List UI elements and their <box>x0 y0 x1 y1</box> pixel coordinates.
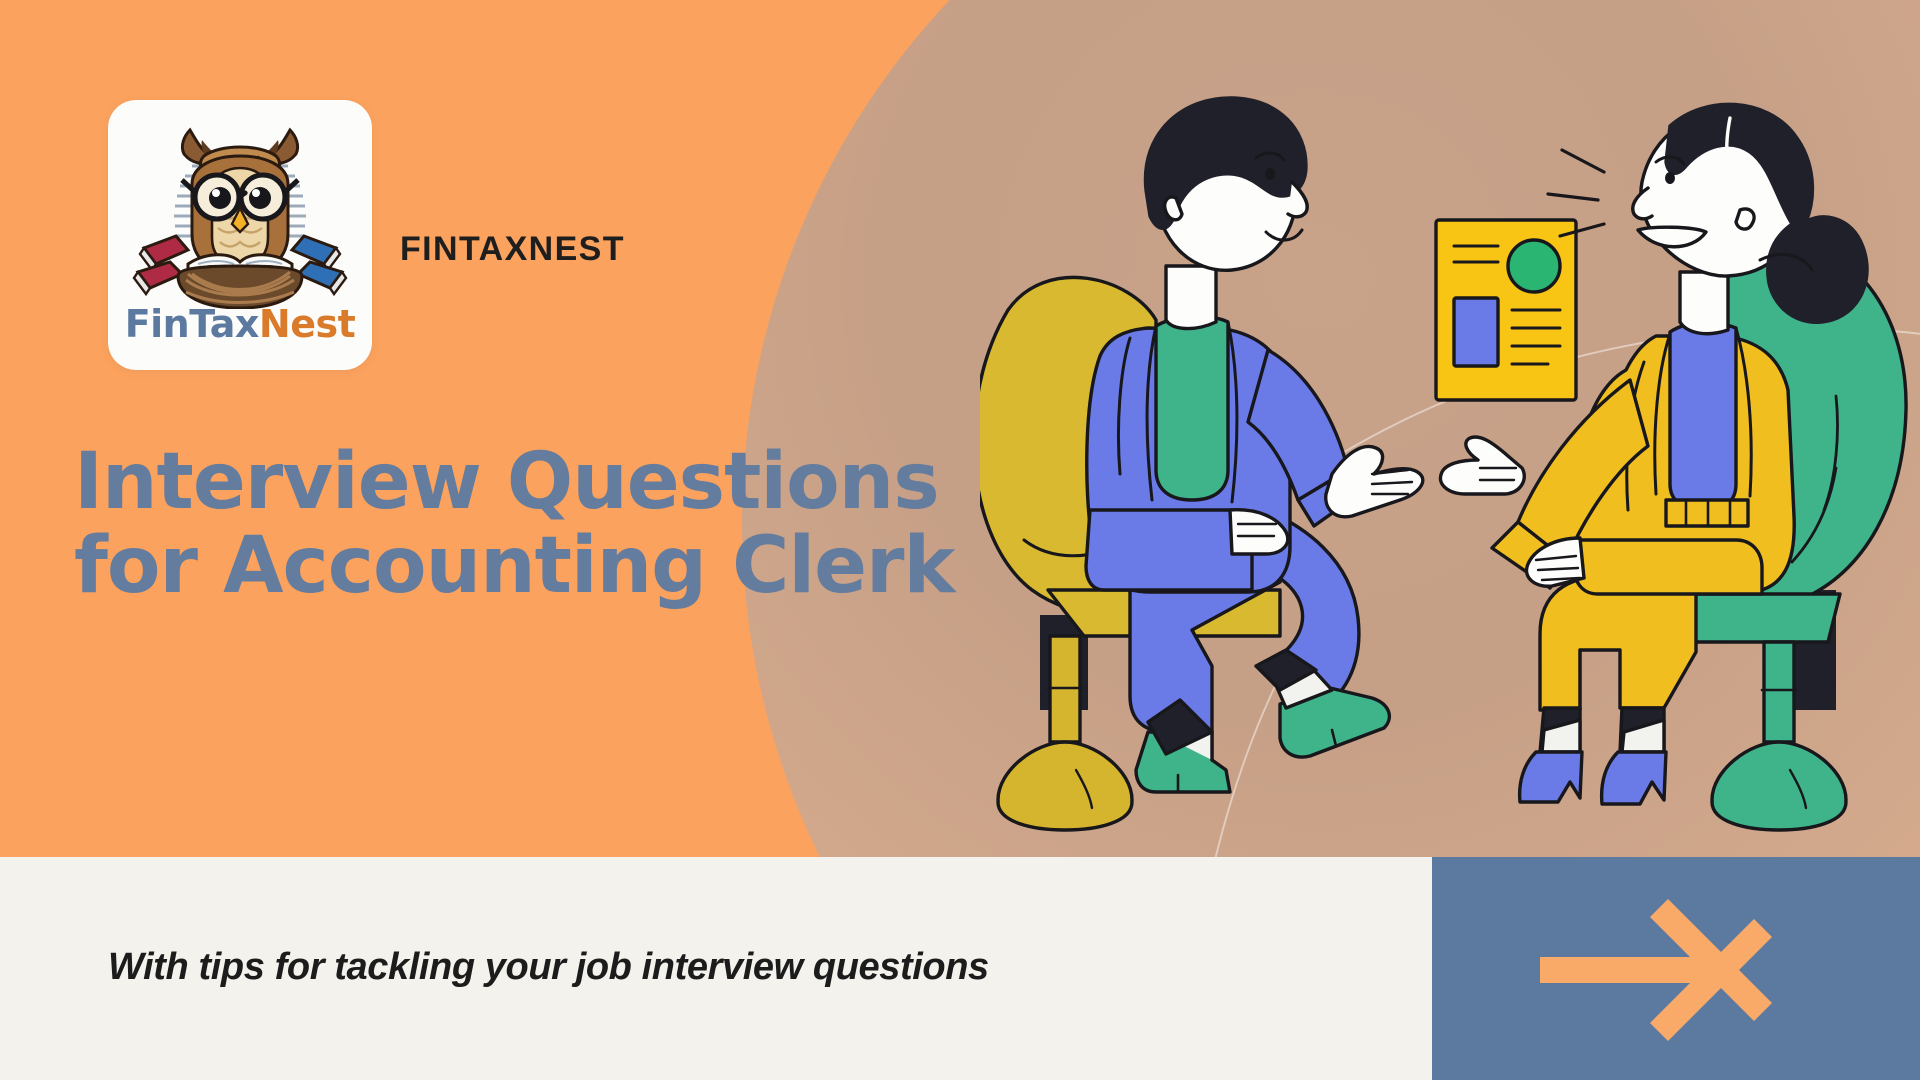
page-title-line2: for Accounting Clerk <box>74 524 1074 608</box>
page-title-line1: Interview Questions <box>74 437 939 527</box>
subtitle: With tips for tackling your job intervie… <box>108 946 1388 989</box>
hero-band: FinTaxNest FINTAXNEST Interview Question… <box>0 0 1920 857</box>
interview-illustration <box>980 70 1920 857</box>
arrow-right-icon[interactable] <box>1540 895 1810 1045</box>
logo-wordmark: FinTaxNest <box>125 305 356 343</box>
logo-word-nest: Nest <box>259 302 355 346</box>
page-title: Interview Questions for Accounting Clerk <box>74 440 1074 608</box>
owl-with-glasses-books-nest-icon <box>130 114 350 309</box>
brand-logo-card: FinTaxNest <box>108 100 372 370</box>
poster-canvas: FinTaxNest FINTAXNEST Interview Question… <box>0 0 1920 1080</box>
next-slide-panel[interactable] <box>1432 857 1920 1080</box>
brand-name: FINTAXNEST <box>400 230 625 269</box>
logo-word-fintax: FinTax <box>125 302 259 346</box>
